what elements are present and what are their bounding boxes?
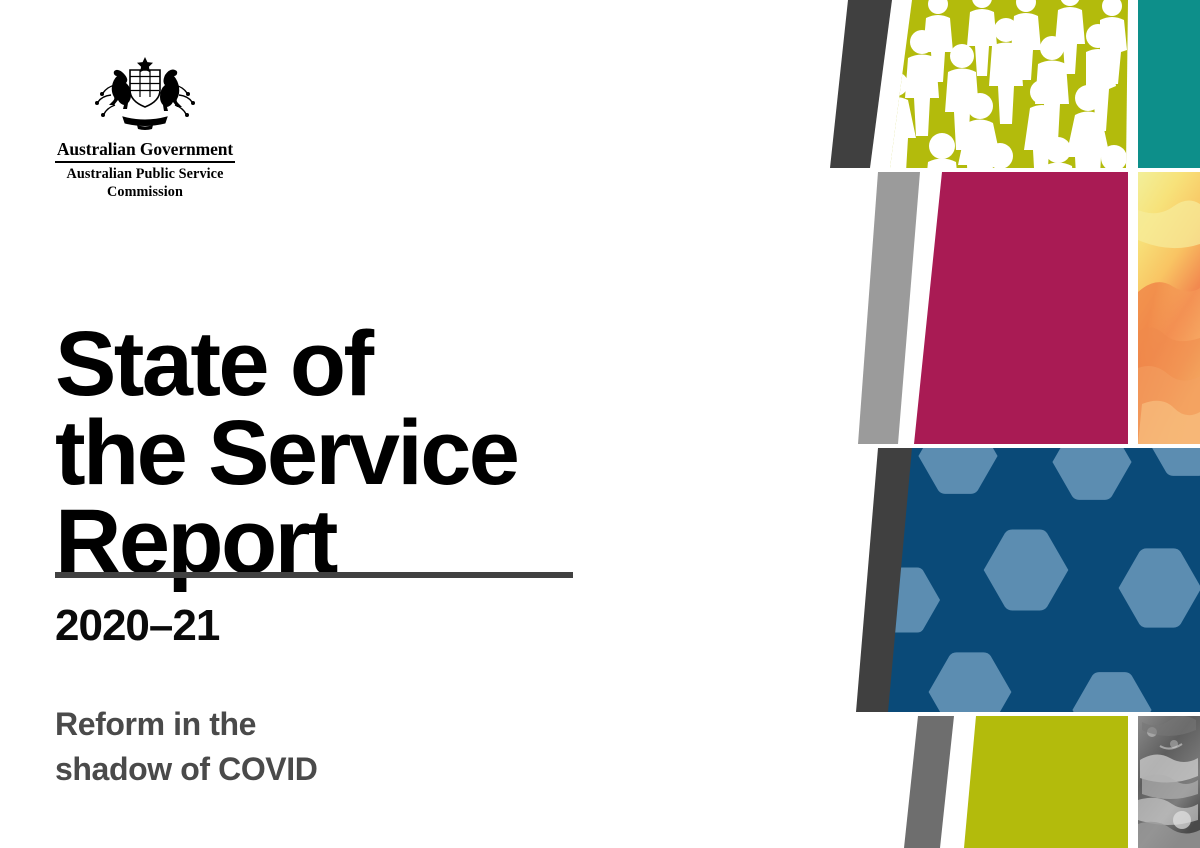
slant-bar-grey <box>904 716 954 848</box>
slant-bar-dark <box>830 0 892 168</box>
graphic-panel-people <box>830 0 1200 168</box>
graphic-panel-hexagons <box>830 448 1200 712</box>
australian-government-logo: Australian Government Australian Public … <box>55 55 235 202</box>
logo-agency-line-1: Australian Public Service <box>55 166 235 184</box>
title-divider-rule <box>55 572 573 578</box>
report-year: 2020–21 <box>55 602 219 650</box>
page-title: State of the Service Report <box>55 320 695 588</box>
graphic-panel-olive-photo <box>830 716 1200 848</box>
teal-accent-strip <box>1138 0 1200 168</box>
cover-text-column: Australian Government Australian Public … <box>0 0 830 848</box>
subtitle-line-2: shadow of COVID <box>55 747 535 792</box>
title-line-1: State of <box>55 320 695 409</box>
graphic-panel-magenta <box>830 172 1200 444</box>
title-line-2: the Service <box>55 409 695 498</box>
logo-agency-line-2: Commission <box>55 184 235 202</box>
report-cover-page: Australian Government Australian Public … <box>0 0 1200 848</box>
bw-hands-photo-strip <box>1138 716 1200 848</box>
cover-graphic-panels <box>830 0 1200 848</box>
coat-of-arms-icon <box>85 55 205 133</box>
orange-landscape-photo-strip <box>1138 172 1200 444</box>
logo-divider-rule <box>55 161 235 163</box>
report-subtitle: Reform in the shadow of COVID <box>55 702 535 793</box>
slant-bar-grey <box>858 172 920 444</box>
olive-block <box>964 716 1128 848</box>
magenta-block <box>914 172 1128 444</box>
logo-government-line: Australian Government <box>55 139 235 159</box>
subtitle-line-1: Reform in the <box>55 702 535 747</box>
